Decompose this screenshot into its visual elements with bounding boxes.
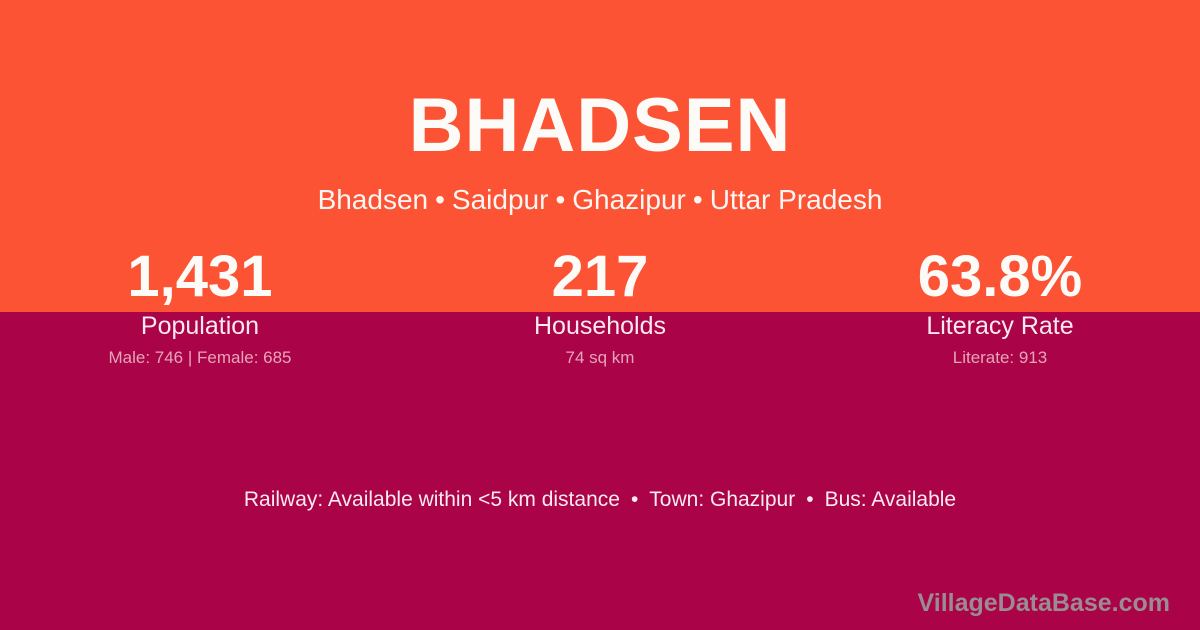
stat-label: Households xyxy=(400,310,800,342)
stat-sublabel: Male: 746 | Female: 685 xyxy=(0,347,400,369)
info-separator-2: • xyxy=(795,488,824,511)
stat-sublabel: Literate: 913 xyxy=(800,347,1200,369)
breadcrumb-state: Uttar Pradesh xyxy=(710,184,883,215)
site-brand: VillageDataBase.com xyxy=(918,588,1170,618)
breadcrumb-separator-3: • xyxy=(686,184,710,215)
stat-households: 217 Households 74 sq km xyxy=(400,246,800,369)
breadcrumb-separator-1: • xyxy=(428,184,452,215)
stat-value: 1,431 xyxy=(0,246,400,308)
stats-row: 1,431 Population Male: 746 | Female: 685… xyxy=(0,246,1200,369)
breadcrumb-district: Ghazipur xyxy=(572,184,686,215)
card-content: BHADSEN Bhadsen•Saidpur•Ghazipur•Uttar P… xyxy=(0,0,1200,630)
breadcrumb-block: Saidpur xyxy=(452,184,549,215)
stat-literacy-rate: 63.8% Literacy Rate Literate: 913 xyxy=(800,246,1200,369)
stat-value: 63.8% xyxy=(800,246,1200,308)
stat-label: Population xyxy=(0,310,400,342)
stat-label: Literacy Rate xyxy=(800,310,1200,342)
breadcrumb-village: Bhadsen xyxy=(318,184,429,215)
stat-population: 1,431 Population Male: 746 | Female: 685 xyxy=(0,246,400,369)
village-summary-card: BHADSEN Bhadsen•Saidpur•Ghazipur•Uttar P… xyxy=(0,0,1200,630)
info-item-railway: Railway: Available within <5 km distance xyxy=(244,488,620,511)
breadcrumb-separator-2: • xyxy=(548,184,572,215)
info-separator-1: • xyxy=(620,488,649,511)
breadcrumb: Bhadsen•Saidpur•Ghazipur•Uttar Pradesh xyxy=(0,183,1200,217)
info-item-bus: Bus: Available xyxy=(825,488,957,511)
amenities-info-bar: Railway: Available within <5 km distance… xyxy=(0,486,1200,514)
stat-value: 217 xyxy=(400,246,800,308)
info-item-town: Town: Ghazipur xyxy=(649,488,795,511)
page-title: BHADSEN xyxy=(0,82,1200,170)
stat-sublabel: 74 sq km xyxy=(400,347,800,369)
